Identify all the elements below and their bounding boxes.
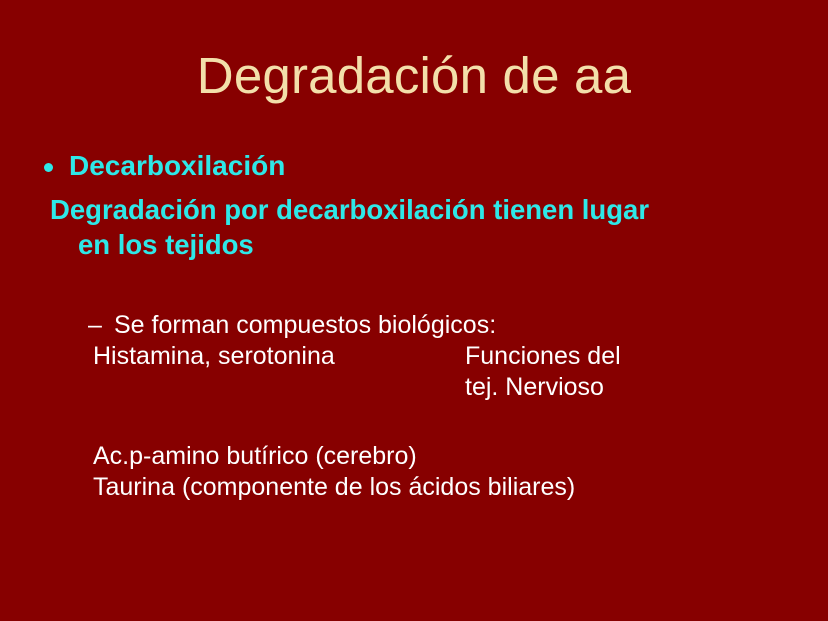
cyan-paragraph-line-2: en los tejidos xyxy=(50,227,762,262)
presentation-slide: Degradación de aa Decarboxilación Degrad… xyxy=(0,0,828,621)
compounds-right-line-1: Funciones del xyxy=(465,341,621,372)
sub-bullet-compuestos: –Se forman compuestos biológicos: xyxy=(88,310,788,341)
compounds-right-cell: Funciones del tej. Nervioso xyxy=(465,341,621,403)
compound-line-taurina: Taurina (componente de los ácidos biliar… xyxy=(88,472,788,503)
cyan-paragraph-line-1: Degradación por decarboxilación tienen l… xyxy=(50,194,649,225)
dash-marker-icon: – xyxy=(88,310,114,341)
bullet-item-label: Decarboxilación xyxy=(69,148,285,184)
cyan-paragraph: Degradación por decarboxilación tienen l… xyxy=(50,192,762,262)
compound-line-gaba: Ac.p-amino butírico (cerebro) xyxy=(88,441,788,472)
compounds-right-line-2: tej. Nervioso xyxy=(465,372,621,403)
compounds-row: Histamina, serotonina Funciones del tej.… xyxy=(88,341,788,403)
slide-title: Degradación de aa xyxy=(0,47,828,105)
bullet-dot-icon xyxy=(44,163,53,172)
body-content-block: –Se forman compuestos biológicos: Histam… xyxy=(88,310,788,503)
bullet-item-decarboxilacion: Decarboxilación xyxy=(44,148,784,184)
compounds-left-cell: Histamina, serotonina xyxy=(93,341,335,372)
block-spacer xyxy=(88,403,788,441)
sub-bullet-label: Se forman compuestos biológicos: xyxy=(114,311,496,339)
